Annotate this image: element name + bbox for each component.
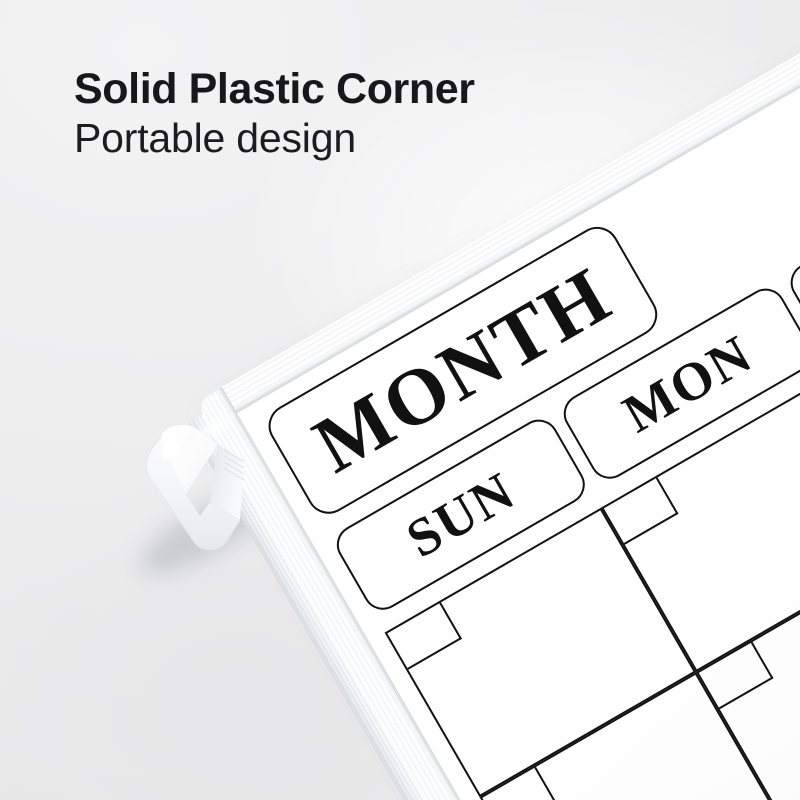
- headline-subtitle: Portable design: [74, 116, 475, 162]
- solid-plastic-corner: [140, 392, 264, 560]
- headline-block: Solid Plastic Corner Portable design: [74, 66, 475, 162]
- date-number-box: [387, 602, 462, 669]
- product-image-scene: MONTH SUN MON: [0, 0, 800, 800]
- headline-title: Solid Plastic Corner: [74, 66, 475, 112]
